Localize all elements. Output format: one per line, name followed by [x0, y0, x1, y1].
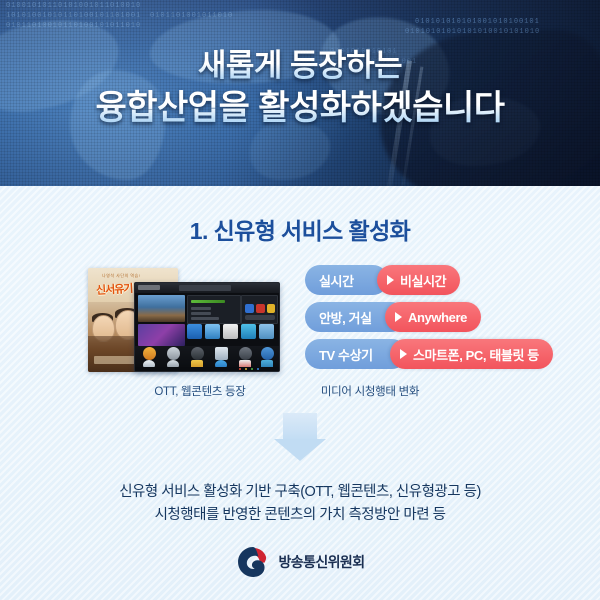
- pill-to-label: 스마트폰, PC, 태블릿 등: [413, 345, 539, 364]
- outcome-line-1: 신유형 서비스 활성화 기반 구축(OTT, 웹콘텐츠, 신유형광고 등): [0, 481, 600, 504]
- infographic-poster: 01001010110101001011010010 1010100101011…: [0, 0, 600, 600]
- tv-panel-row: [191, 312, 211, 315]
- tv-app-tile: [267, 304, 275, 313]
- tv-panel-row: [191, 307, 211, 310]
- tv-search-bar: [179, 285, 231, 291]
- caption-ott-webcontent: OTT, 웹콘텐츠 등장: [120, 383, 280, 399]
- smart-tv-screen-image: [134, 282, 280, 372]
- tv-app-icon: [205, 324, 220, 339]
- tv-app-icon: [191, 347, 204, 360]
- tv-panel-row: [191, 317, 219, 320]
- binary-code-text: 0101101001011010: [150, 12, 233, 20]
- arrow-right-icon: [395, 312, 402, 322]
- caption-viewing-change: 미디어 시청행태 변화: [290, 383, 450, 399]
- tv-status-dot: [257, 368, 259, 370]
- tv-top-bar: [135, 283, 279, 293]
- tv-status-dot: [251, 368, 253, 370]
- tv-brand-logo: [138, 285, 160, 290]
- pill-to-label: 비실시간: [400, 271, 446, 290]
- tv-app-icon: [259, 324, 274, 339]
- binary-code-text: 01001010110101001011010010: [6, 2, 141, 10]
- pill-to-nonrealtime: 비실시간: [377, 265, 460, 295]
- binary-code-text: 01011010010110100101011010: [6, 22, 141, 30]
- tv-app-icon: [187, 324, 202, 339]
- tv-progress-bar: [191, 300, 225, 303]
- section-title: 1. 신유형 서비스 활성화: [0, 212, 600, 246]
- tv-app-tile: [256, 304, 265, 313]
- tv-app-icon: [261, 347, 274, 360]
- binary-code-text: 10101001010110100101101001: [6, 12, 141, 20]
- tv-app-icon: [223, 324, 238, 339]
- tv-app-icon: [241, 324, 256, 339]
- tv-app-icon: [239, 347, 252, 360]
- poster-show-title: 신서유기: [96, 280, 133, 298]
- comparison-row: 안방, 거실 Anywhere: [305, 302, 585, 332]
- header-title: 새롭게 등장하는 융합산업을 활성화하겠습니다: [0, 48, 600, 128]
- comparison-row: TV 수상기 스마트폰, PC, 태블릿 등: [305, 339, 585, 369]
- tv-panel-row: [245, 315, 275, 320]
- tv-side-panel: [241, 295, 278, 324]
- tv-info-panel: [187, 295, 241, 324]
- binary-code-text: 01010101010101010010101010: [405, 28, 540, 36]
- comparison-pill-group: 실시간 비실시간 안방, 거실 Anywhere TV 수상기 스마트폰, PC…: [305, 265, 585, 376]
- poster-tagline: 나영석 사단의 역습!: [102, 273, 140, 279]
- header-banner: 01001010110101001011010010 1010100101011…: [0, 0, 600, 186]
- outcome-text: 신유형 서비스 활성화 기반 구축(OTT, 웹콘텐츠, 신유형광고 등) 시청…: [0, 481, 600, 528]
- media-collage: 나영석 사단의 역습! 신서유기: [88, 262, 278, 374]
- tv-app-icon: [143, 347, 156, 360]
- tv-status-dot: [245, 368, 247, 370]
- header-title-line-2: 융합산업을 활성화하겠습니다: [0, 88, 600, 128]
- taegeuk-icon: [236, 545, 270, 579]
- down-arrow-icon: [274, 413, 326, 461]
- tv-app-tile: [245, 304, 254, 313]
- pill-to-label: Anywhere: [408, 310, 467, 325]
- tv-hero-thumbnail: [138, 324, 185, 346]
- header-title-line-1: 새롭게 등장하는: [0, 48, 600, 85]
- arrow-head: [274, 439, 326, 461]
- pill-to-anywhere: Anywhere: [385, 302, 481, 332]
- footer-logo: 방송통신위원회: [0, 545, 600, 579]
- pill-to-devices: 스마트폰, PC, 태블릿 등: [390, 339, 553, 369]
- arrow-right-icon: [387, 275, 394, 285]
- arrow-right-icon: [400, 349, 407, 359]
- pill-from-realtime: 실시간: [305, 265, 388, 295]
- tv-app-icon: [215, 347, 228, 360]
- tv-hero-thumbnail: [138, 295, 185, 322]
- comparison-row: 실시간 비실시간: [305, 265, 585, 295]
- binary-code-text: 010101010101001010100101: [415, 18, 540, 26]
- arrow-stem: [283, 413, 317, 439]
- tv-status-dot: [239, 368, 241, 370]
- tv-bottom-bar: [135, 367, 279, 371]
- outcome-line-2: 시청행태를 반영한 콘텐츠의 가치 측정방안 마련 등: [0, 504, 600, 527]
- organization-name: 방송통신위원회: [279, 552, 365, 572]
- tv-app-icon: [167, 347, 180, 360]
